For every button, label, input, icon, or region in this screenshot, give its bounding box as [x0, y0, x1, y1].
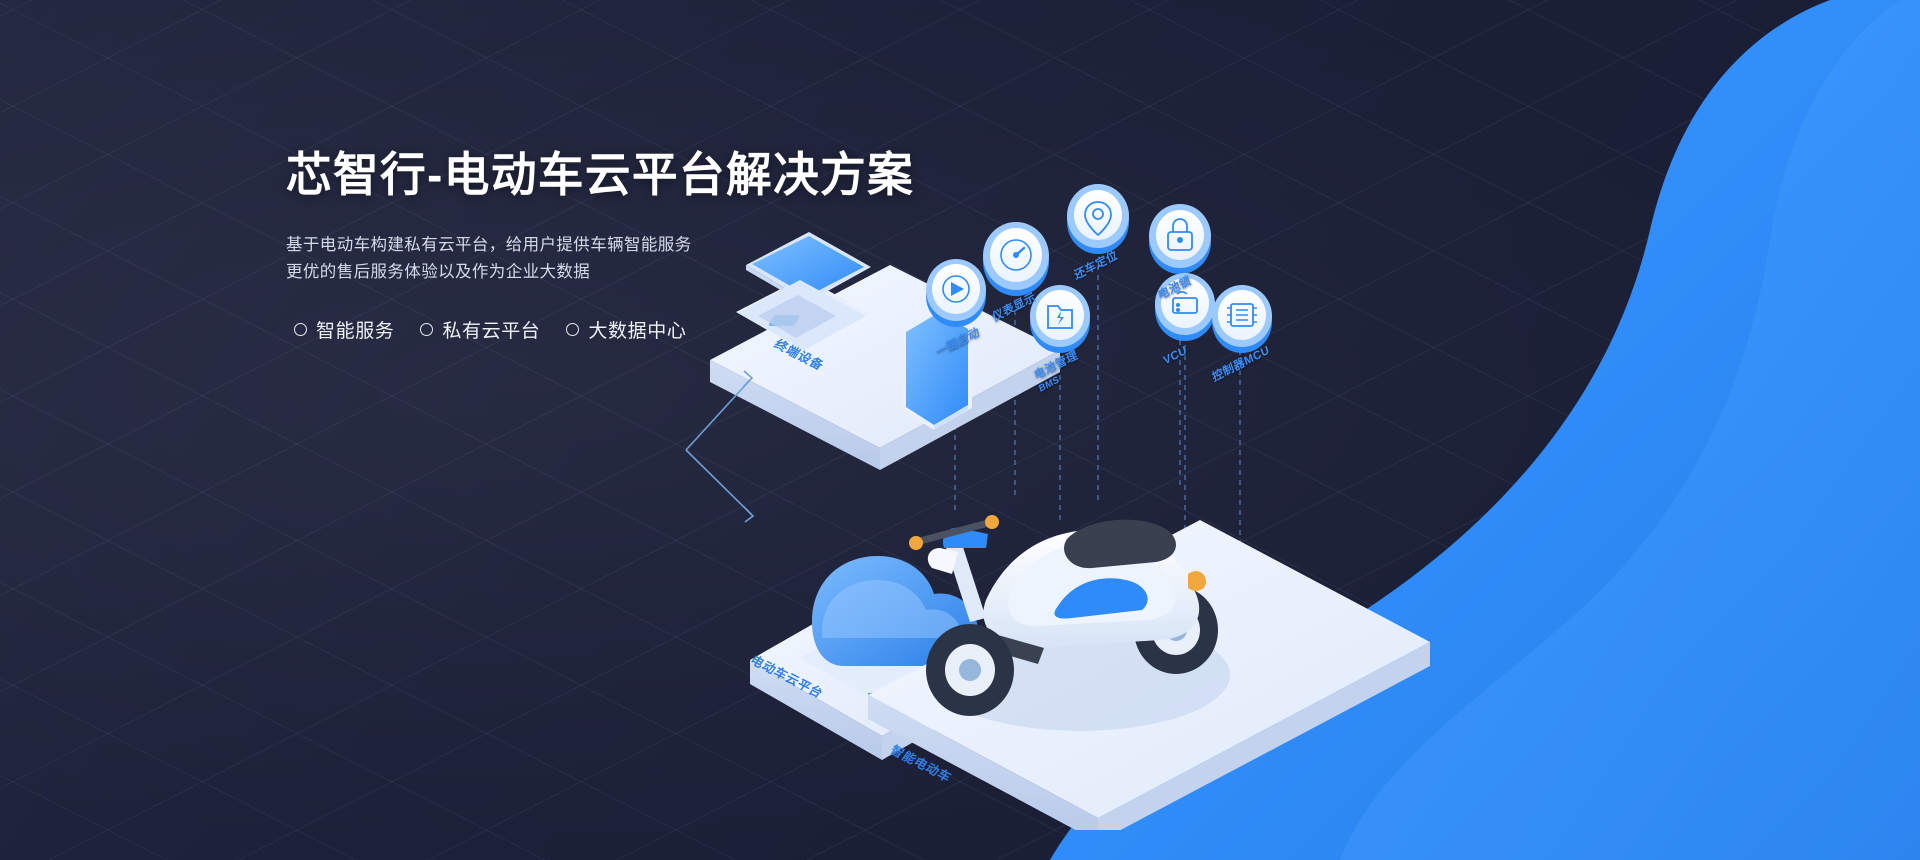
badge-coin-return-locate[interactable] — [1067, 184, 1129, 254]
hero-banner: 芯智行-电动车云平台解决方案 基于电动车构建私有云平台，给用户提供车辆智能服务 … — [0, 0, 1920, 860]
illustration-svg — [640, 170, 1860, 830]
hero-tag-smart-service[interactable]: 智能服务 — [294, 316, 394, 343]
badge-coin-battery-mgmt[interactable] — [1030, 285, 1090, 353]
hero-tag-label: 私有云平台 — [442, 316, 540, 343]
badge-coin-battery-lock[interactable] — [1149, 204, 1211, 274]
circle-bullet-icon — [420, 323, 433, 336]
hero-tag-private-cloud[interactable]: 私有云平台 — [420, 316, 540, 343]
isometric-illustration: 一键启动 仪表显示 电池管理 BMS 还车定位 电池锁 VCU 控制器MCU 终… — [640, 170, 1860, 830]
circle-bullet-icon — [294, 323, 307, 336]
smartphone-icon — [902, 309, 972, 430]
badge-coin-one-key-start[interactable] — [926, 259, 986, 327]
circle-bullet-icon — [566, 323, 579, 336]
front-wheel — [926, 624, 1014, 716]
badge-coin-dashboard[interactable] — [983, 222, 1049, 296]
hero-tag-label: 智能服务 — [316, 316, 394, 343]
